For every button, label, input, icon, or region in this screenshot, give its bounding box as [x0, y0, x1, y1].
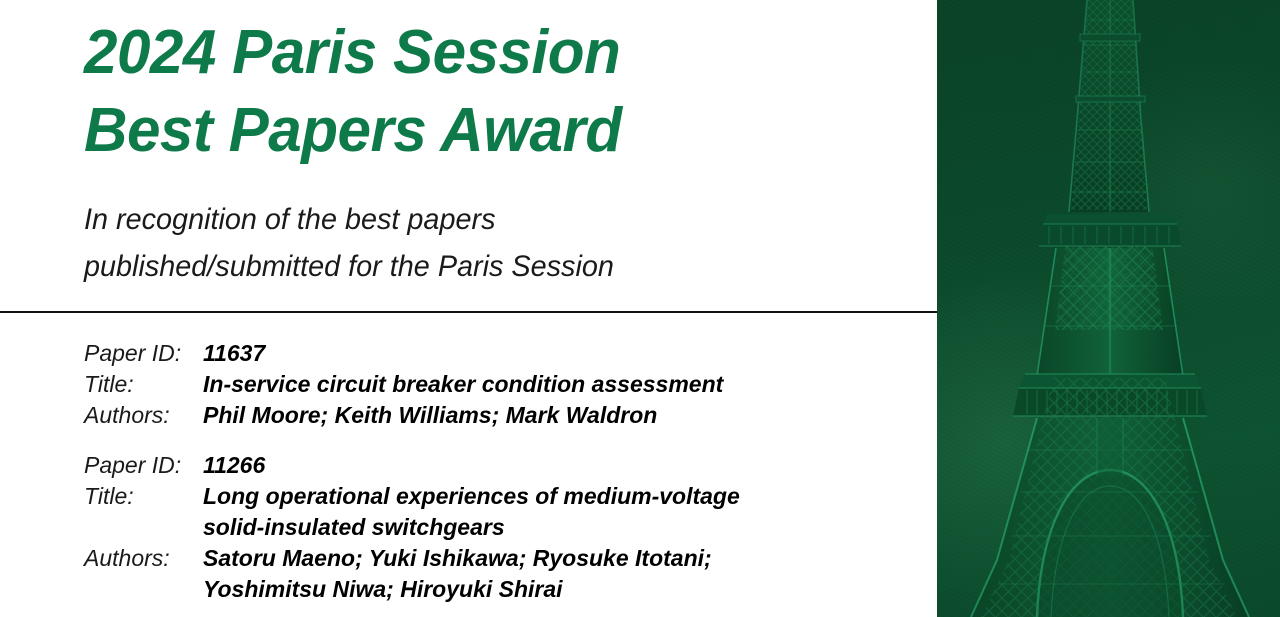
paper-title-row: Title: In-service circuit breaker condit… — [84, 369, 884, 400]
paper-id-value: 11266 — [203, 450, 884, 481]
paper-title-label: Title: — [84, 481, 203, 512]
paper-title-row: Title: Long operational experiences of m… — [84, 481, 884, 543]
paper-title-value: In-service circuit breaker condition ass… — [203, 369, 884, 400]
paper-authors-row: Authors: Satoru Maeno; Yuki Ishikawa; Ry… — [84, 543, 884, 605]
award-slide: 2024 Paris Session Best Papers Award In … — [0, 0, 1280, 617]
paper-title-label: Title: — [84, 369, 203, 400]
paper-authors-value: Satoru Maeno; Yuki Ishikawa; Ryosuke Ito… — [203, 543, 884, 605]
subtitle-line-2: published/submitted for the Paris Sessio… — [84, 243, 852, 290]
paper-id-label: Paper ID: — [84, 338, 203, 369]
eiffel-tower-icon — [937, 0, 1280, 617]
content-column: 2024 Paris Session Best Papers Award In … — [0, 0, 937, 617]
paper-authors-row: Authors: Phil Moore; Keith Williams; Mar… — [84, 400, 884, 431]
paper-entry: Paper ID: 11266 Title: Long operational … — [84, 450, 884, 605]
paper-id-row: Paper ID: 11637 — [84, 338, 884, 369]
paper-id-label: Paper ID: — [84, 450, 203, 481]
paper-authors-line: Yoshimitsu Niwa; Hiroyuki Shirai — [203, 574, 884, 605]
paper-authors-value: Phil Moore; Keith Williams; Mark Waldron — [203, 400, 884, 431]
page-title: 2024 Paris Session Best Papers Award — [84, 14, 904, 170]
paper-entry: Paper ID: 11637 Title: In-service circui… — [84, 338, 884, 431]
paper-authors-label: Authors: — [84, 400, 203, 431]
page-subtitle: In recognition of the best papers publis… — [84, 196, 884, 290]
title-line-1: 2024 Paris Session — [84, 14, 879, 92]
eiffel-tower-photo — [937, 0, 1280, 617]
paper-title-line: solid-insulated switchgears — [203, 512, 884, 543]
papers-list: Paper ID: 11637 Title: In-service circui… — [84, 338, 884, 605]
subtitle-line-1: In recognition of the best papers — [84, 196, 852, 243]
paper-authors-line: Phil Moore; Keith Williams; Mark Waldron — [203, 400, 884, 431]
paper-title-line: Long operational experiences of medium-v… — [203, 481, 884, 512]
paper-authors-label: Authors: — [84, 543, 203, 574]
paper-id-row: Paper ID: 11266 — [84, 450, 884, 481]
paper-title-value: Long operational experiences of medium-v… — [203, 481, 884, 543]
header-divider — [0, 311, 937, 313]
paper-title-line: In-service circuit breaker condition ass… — [203, 369, 884, 400]
title-line-2: Best Papers Award — [84, 92, 879, 170]
second-platform — [1039, 214, 1181, 246]
paper-id-value: 11637 — [203, 338, 884, 369]
paper-authors-line: Satoru Maeno; Yuki Ishikawa; Ryosuke Ito… — [203, 543, 884, 574]
